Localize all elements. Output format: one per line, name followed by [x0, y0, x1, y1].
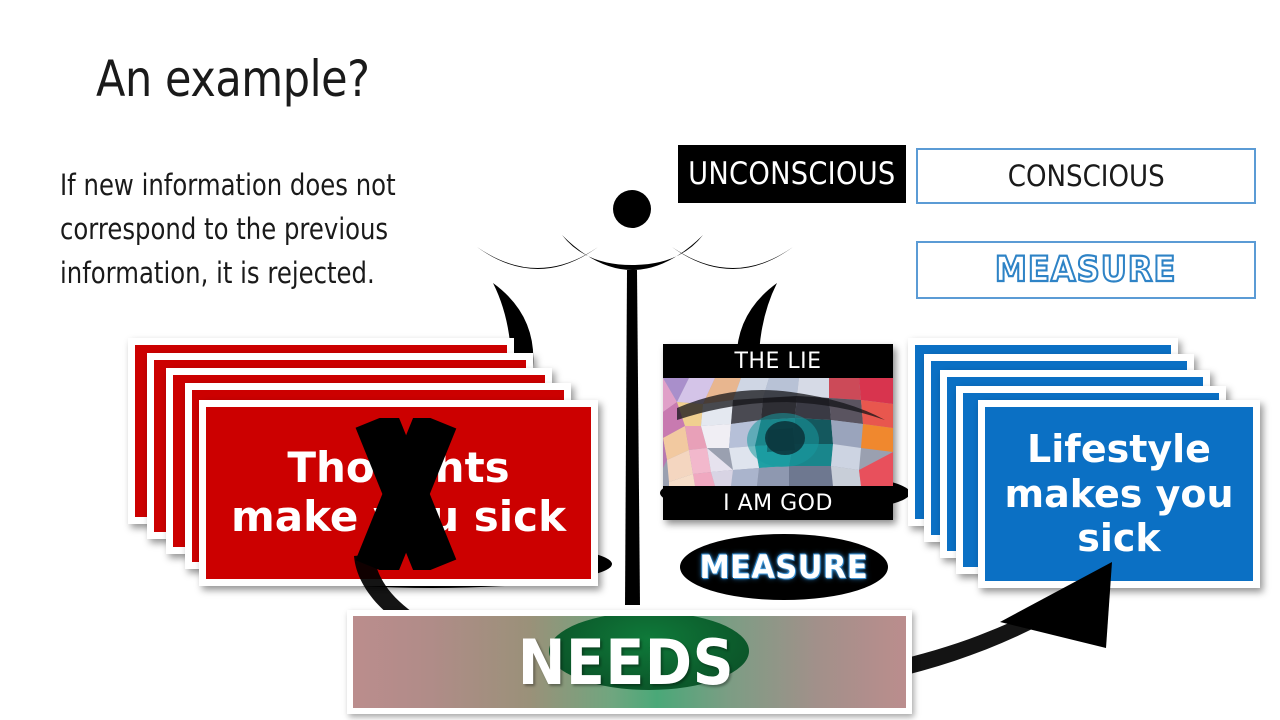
card-red-front: Thoughts make you sick: [199, 400, 598, 586]
slide-canvas: An example? If new information does not …: [0, 0, 1280, 720]
eye-caption-bottom: I AM GOD: [663, 486, 893, 520]
legend-conscious: CONSCIOUS: [916, 148, 1256, 204]
card-blue-label: Lifestyle makes you sick: [997, 427, 1241, 560]
measure-oval: MEASURE: [680, 534, 888, 600]
needs-label: NEEDS: [518, 626, 734, 699]
legend-unconscious-label: UNCONSCIOUS: [688, 156, 895, 192]
legend-conscious-label: CONSCIOUS: [1007, 159, 1164, 193]
card-stack-blue: Lifestyle makes you sick: [908, 338, 1260, 588]
card-red-label: Thoughts make you sick: [222, 444, 575, 541]
needs-banner: NEEDS: [347, 610, 912, 714]
low-poly-eye-image: [663, 378, 893, 486]
legend-unconscious: UNCONSCIOUS: [678, 145, 906, 203]
card-blue-front: Lifestyle makes you sick: [978, 400, 1260, 588]
legend-measure-label: MEASURE: [995, 250, 1177, 290]
eye-card: THE LIE: [663, 344, 893, 520]
intro-paragraph: If new information does not correspond t…: [60, 163, 413, 295]
page-title: An example?: [96, 50, 370, 108]
eye-caption-top: THE LIE: [663, 344, 893, 378]
legend-measure-box: MEASURE: [916, 241, 1256, 299]
measure-oval-label: MEASURE: [700, 548, 869, 586]
card-stack-red: Thoughts make you sick: [128, 338, 598, 586]
